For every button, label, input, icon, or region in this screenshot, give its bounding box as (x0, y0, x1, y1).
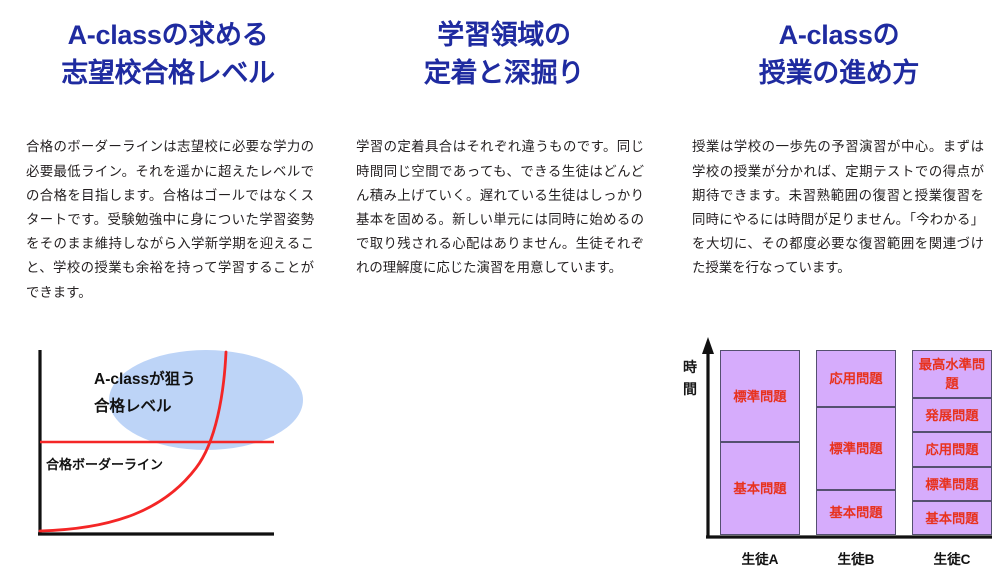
heading-line: 定着と深掘り (336, 54, 672, 92)
column-learning-domain: 学習領域の 定着と深掘り 学習の定着具合はそれぞれ違うものです。同じ時間同じ空間… (336, 0, 672, 585)
page-title-2: 学習領域の 定着と深掘り (336, 16, 672, 92)
page-title-3: A-classの 授業の進め方 (672, 16, 1006, 92)
page-title-1: A-classの求める 志望校合格レベル (0, 16, 336, 92)
target-zone-label-line: A-classが狙う (94, 366, 264, 393)
body-text-2: 学習の定着具合はそれぞれ違うものです。同じ時間同じ空間であっても、できる生徒はど… (356, 135, 644, 280)
column-lesson-method: A-classの 授業の進め方 授業は学校の一歩先の予習演習が中心。まずは学校の… (672, 0, 1006, 585)
figure-growth-curve: A-classが狙う 合格レベル 合格ボーダーライン (24, 332, 314, 560)
heading-line: 授業の進め方 (672, 54, 1006, 92)
heading-line: A-classの (672, 16, 1006, 54)
border-line-label: 合格ボーダーライン (46, 454, 163, 473)
body-text-1: 合格のボーダーラインは志望校に必要な学力の必要最低ライン。それを遥かに超えたレベ… (26, 135, 314, 304)
target-zone-label: A-classが狙う 合格レベル (94, 366, 264, 420)
heading-line: A-classの求める (0, 16, 336, 54)
column-admission-level: A-classの求める 志望校合格レベル 合格のボーダーラインは志望校に必要な学… (0, 0, 336, 585)
target-zone-label-line: 合格レベル (94, 393, 264, 420)
heading-line: 志望校合格レベル (0, 54, 336, 92)
heading-line: 学習領域の (336, 16, 672, 54)
body-text-3: 授業は学校の一歩先の予習演習が中心。まずは学校の授業が分かれば、定期テストでの得… (692, 135, 984, 280)
